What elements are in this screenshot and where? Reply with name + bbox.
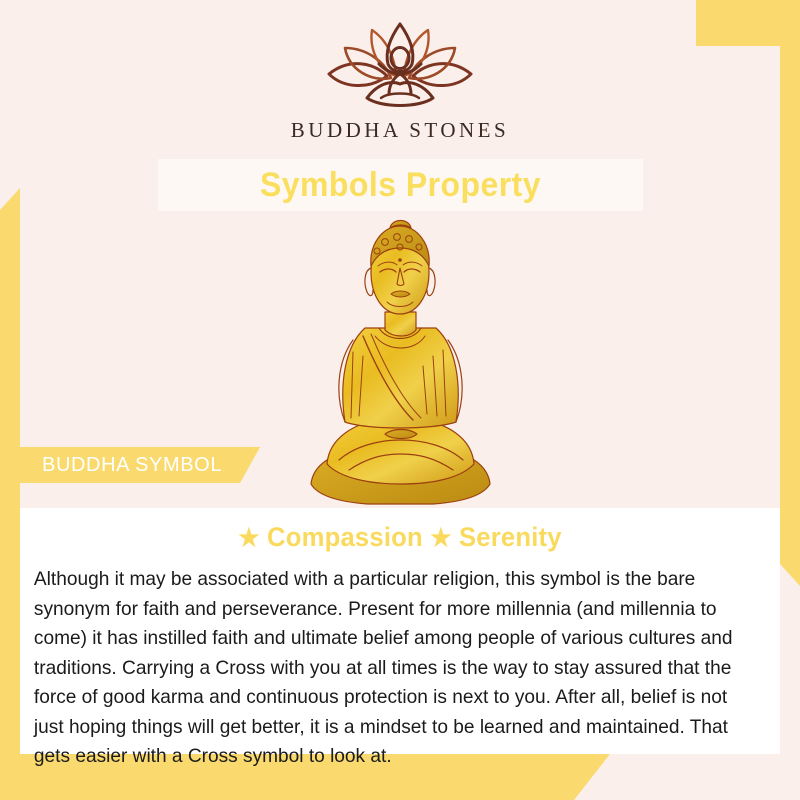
brand-name: BUDDHA STONES (291, 118, 509, 143)
ribbon-label: BUDDHA SYMBOL (42, 454, 222, 477)
decorative-bar-left (0, 188, 20, 800)
buddha-symbol-ribbon: BUDDHA SYMBOL (20, 447, 260, 483)
content-headline: ★ Compassion ★ Serenity (47, 522, 754, 553)
headline-word-compassion: Compassion (267, 522, 423, 552)
star-icon-left: ★ (238, 524, 259, 552)
star-icon-right: ★ (430, 524, 451, 552)
content-body-text: Although it may be associated with a par… (28, 565, 761, 772)
brand-header: BUDDHA STONES (20, 0, 780, 143)
page-title: Symbols Property (259, 166, 540, 205)
seated-buddha-statue-icon (293, 216, 508, 511)
content-panel: ★ Compassion ★ Serenity Although it may … (20, 508, 780, 754)
title-banner: Symbols Property (158, 159, 643, 211)
decorative-bar-right (780, 0, 800, 586)
headline-word-serenity: Serenity (459, 522, 562, 552)
lotus-meditation-icon (315, 18, 485, 114)
poster-stage: BUDDHA STONES Symbols Property (20, 0, 780, 800)
